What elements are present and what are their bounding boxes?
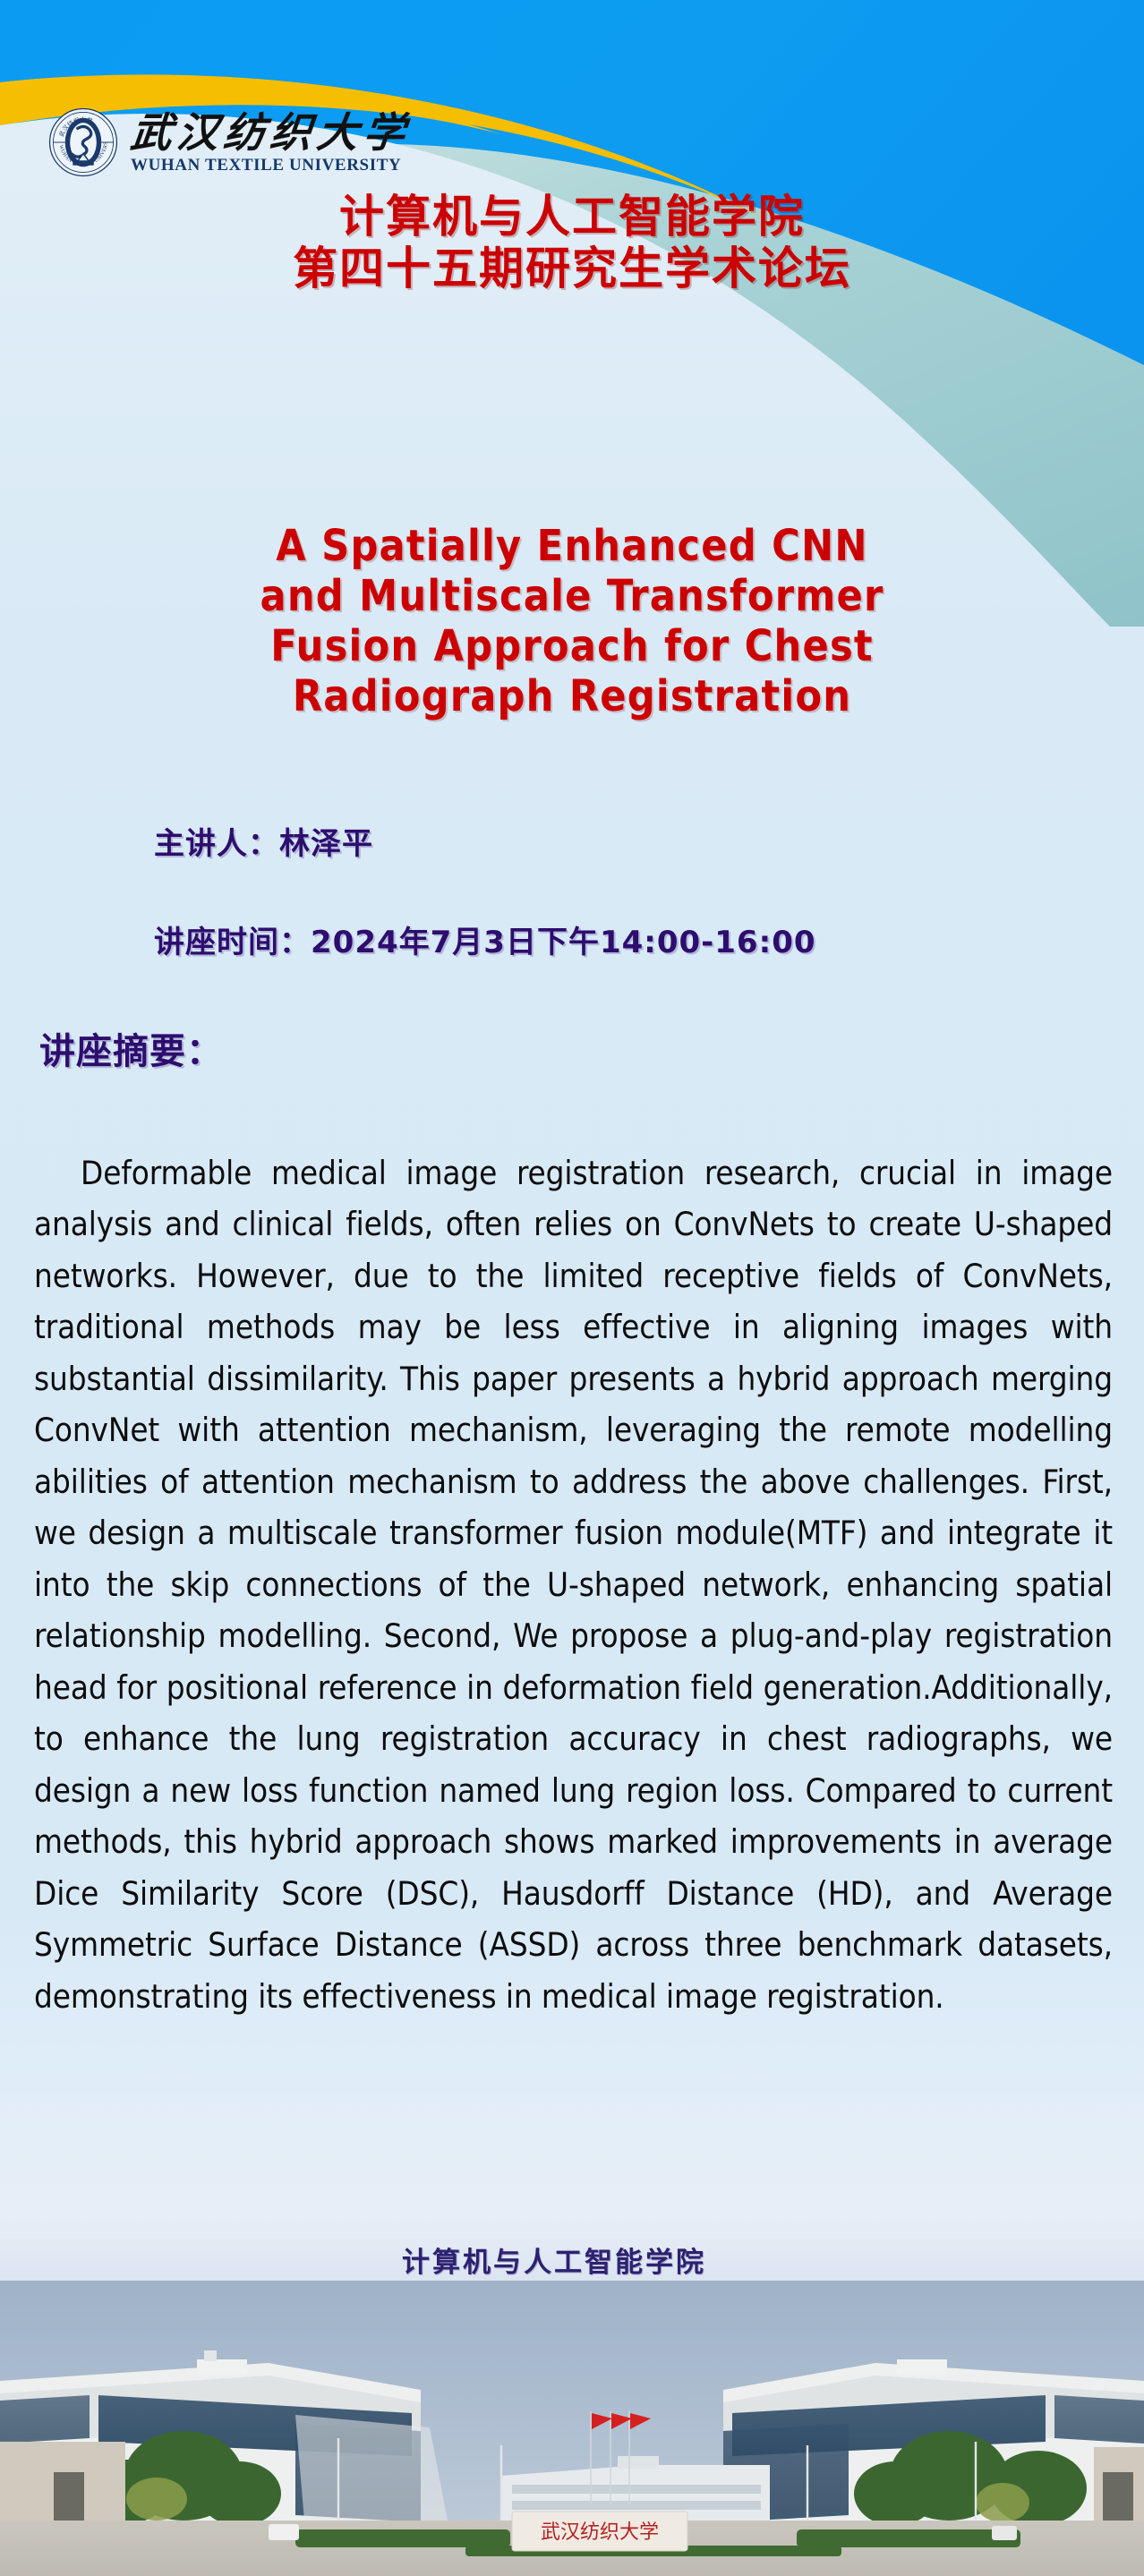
campus-photo: 武汉纺织大学	[0, 2281, 1144, 2576]
stone-inscription: 武汉纺织大学	[541, 2521, 659, 2544]
forum-session-heading: 第四十五期研究生学术论坛	[0, 243, 1144, 294]
abstract-heading: 讲座摘要：	[39, 1022, 223, 1074]
college-name-heading: 计算机与人工智能学院	[0, 192, 1144, 242]
talk-title-line-1: A Spatially Enhanced CNN	[27, 521, 1117, 571]
university-seal-icon: 武汉纺织大学 WUHAN TEXTILE UNIVERSITY	[48, 107, 118, 177]
seminar-poster: 武汉纺织大学 WUHAN TEXTILE UNIVERSITY 武汉纺织大学 W…	[0, 0, 1144, 2576]
speaker-line: 主讲人：林泽平	[154, 819, 373, 863]
abstract-body: Deformable medical image registration re…	[34, 1147, 1113, 2022]
talk-title-line-3: Fusion Approach for Chest	[27, 621, 1117, 671]
logo-english-name: WUHAN TEXTILE UNIVERSITY	[131, 157, 410, 174]
talk-title-line-2: and Multiscale Transformer	[27, 571, 1117, 621]
time-line: 讲座时间：2024年7月3日下午14:00-16:00	[154, 917, 816, 961]
talk-title: A Spatially Enhanced CNN and Multiscale …	[27, 521, 1117, 722]
university-logo: 武汉纺织大学 WUHAN TEXTILE UNIVERSITY 武汉纺织大学 W…	[48, 106, 424, 179]
logo-chinese-name: 武汉纺织大学	[129, 112, 413, 153]
logo-wordmark: 武汉纺织大学 WUHAN TEXTILE UNIVERSITY	[131, 112, 410, 174]
talk-title-line-4: Radiograph Registration	[27, 671, 1117, 721]
footer-department: 计算机与人工智能学院	[0, 2239, 1144, 2280]
